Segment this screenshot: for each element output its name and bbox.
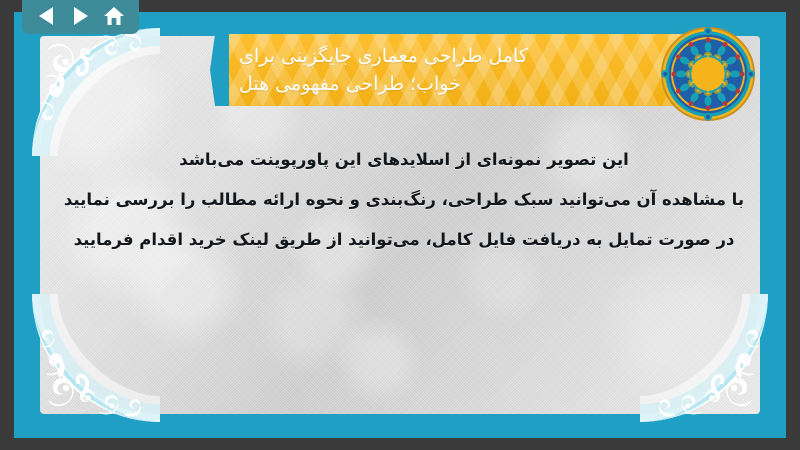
home-icon <box>103 6 125 27</box>
body-line-2: با مشاهده آن می‌توانید سبک طراحی، رنگ‌بن… <box>54 180 754 220</box>
slide-viewer-window: کامل طراحی معماری جایگزینی برای خواب؛ طر… <box>0 0 800 450</box>
slide-title-line-1: کامل طراحی معماری جایگزینی برای <box>239 42 528 70</box>
navigation-toolbar <box>22 0 139 34</box>
slide-title-banner: کامل طراحی معماری جایگزینی برای خواب؛ طر… <box>229 34 709 106</box>
persian-mandala-ornament-icon <box>660 26 756 122</box>
slide-title-line-2: خواب؛ طراحی مفهومی هتل <box>239 70 461 98</box>
body-line-1: این تصویر نمونه‌ای از اسلایدهای این پاور… <box>54 140 754 180</box>
triangle-right-icon <box>71 6 89 26</box>
slide-title: کامل طراحی معماری جایگزینی برای خواب؛ طر… <box>229 34 709 106</box>
triangle-left-icon <box>38 6 56 26</box>
previous-button[interactable] <box>34 4 60 28</box>
body-line-3: در صورت تمایل به دریافت فایل کامل، می‌تو… <box>54 220 754 260</box>
home-button[interactable] <box>101 4 127 28</box>
next-button[interactable] <box>67 4 93 28</box>
presentation-slide: کامل طراحی معماری جایگزینی برای خواب؛ طر… <box>14 12 786 438</box>
slide-body-text: این تصویر نمونه‌ای از اسلایدهای این پاور… <box>54 140 754 260</box>
